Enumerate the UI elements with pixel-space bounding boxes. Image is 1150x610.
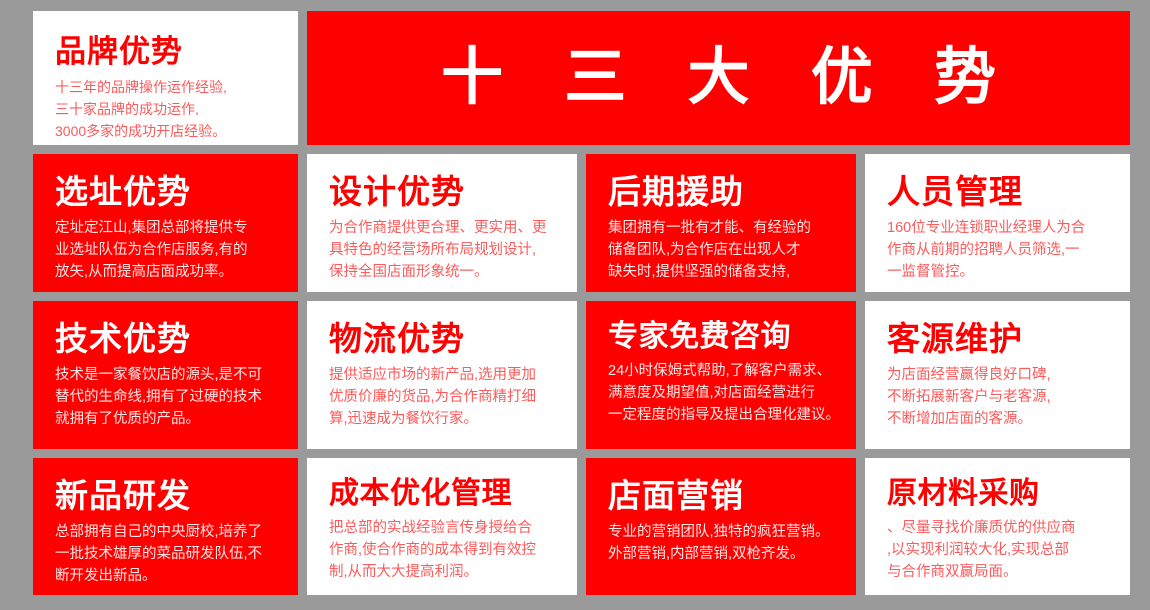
card-title: 客源维护 (887, 321, 1116, 357)
card-personnel-management: 人员管理 160位专业连锁职业经理人为合 作商从前期的招聘人员筛选,一 一监督管… (865, 154, 1130, 292)
card-body: 为合作商提供更合理、更实用、更 具特色的经营场所布局规划设计, 保持全国店面形象… (329, 217, 563, 283)
card-title: 新品研发 (55, 478, 284, 514)
card-title: 专家免费咨询 (608, 321, 842, 353)
main-title-banner: 十 三 大 优 势 (307, 11, 1130, 145)
card-store-marketing: 店面营销 专业的营销团队,独特的疯狂营销。 外部营销,内部营销,双枪齐发。 (586, 458, 856, 595)
card-title: 原材料采购 (887, 478, 1116, 510)
card-cost-optimization-management: 成本优化管理 把总部的实战经验言传身授给合 作商,使合作商的成本得到有效控 制,… (307, 458, 577, 595)
card-body: 为店面经营赢得良好口碑, 不断拓展新客户与老客源, 不断增加店面的客源。 (887, 364, 1116, 430)
card-title: 后期援助 (608, 174, 842, 210)
card-title: 成本优化管理 (329, 478, 563, 510)
card-customer-source-maintenance: 客源维护 为店面经营赢得良好口碑, 不断拓展新客户与老客源, 不断增加店面的客源… (865, 301, 1130, 449)
card-technology-advantage: 技术优势 技术是一家餐饮店的源头,是不可 替代的生命线,拥有了过硬的技术 就拥有… (33, 301, 298, 449)
card-body: 集团拥有一批有才能、有经验的 储备团队,为合作店在出现人才 缺失时,提供坚强的储… (608, 217, 842, 283)
card-body: 定址定江山,集团总部将提供专 业选址队伍为合作店服务,有的 放矢,从而提高店面成… (55, 217, 284, 283)
infographic-board: 品牌优势 十三年的品牌操作运作经验, 三十家品牌的成功运作, 3000多家的成功… (0, 0, 1150, 610)
card-body: 十三年的品牌操作运作经验, 三十家品牌的成功运作, 3000多家的成功开店经验。 (55, 77, 284, 142)
card-expert-free-consultation: 专家免费咨询 24小时保姆式帮助,了解客户需求、 满意度及期望值,对店面经营进行… (586, 301, 856, 449)
main-title-text: 十 三 大 优 势 (419, 47, 1018, 109)
card-site-selection-advantage: 选址优势 定址定江山,集团总部将提供专 业选址队伍为合作店服务,有的 放矢,从而… (33, 154, 298, 292)
card-title: 人员管理 (887, 174, 1116, 210)
card-body: 总部拥有自己的中央厨校,培养了 一批技术雄厚的菜品研发队伍,不 断开发出新品。 (55, 521, 284, 587)
card-brand-advantage: 品牌优势 十三年的品牌操作运作经验, 三十家品牌的成功运作, 3000多家的成功… (33, 11, 298, 145)
card-body: 专业的营销团队,独特的疯狂营销。 外部营销,内部营销,双枪齐发。 (608, 521, 842, 565)
card-design-advantage: 设计优势 为合作商提供更合理、更实用、更 具特色的经营场所布局规划设计, 保持全… (307, 154, 577, 292)
card-title: 选址优势 (55, 174, 284, 210)
card-body: 技术是一家餐饮店的源头,是不可 替代的生命线,拥有了过硬的技术 就拥有了优质的产… (55, 364, 284, 430)
cards-grid: 品牌优势 十三年的品牌操作运作经验, 三十家品牌的成功运作, 3000多家的成功… (33, 11, 1110, 580)
card-title: 技术优势 (55, 321, 284, 357)
card-title: 品牌优势 (55, 35, 284, 68)
card-logistics-advantage: 物流优势 提供适应市场的新产品,选用更加 优质价廉的货品,为合作商精打细 算,迅… (307, 301, 577, 449)
card-raw-material-procurement: 原材料采购 、尽量寻找价廉质优的供应商 ,以实现利润较大化,实现总部 与合作商双… (865, 458, 1130, 595)
card-new-product-development: 新品研发 总部拥有自己的中央厨校,培养了 一批技术雄厚的菜品研发队伍,不 断开发… (33, 458, 298, 595)
card-title: 设计优势 (329, 174, 563, 210)
card-title: 物流优势 (329, 321, 563, 357)
card-body: 24小时保姆式帮助,了解客户需求、 满意度及期望值,对店面经营进行 一定程度的指… (608, 360, 842, 426)
card-later-stage-support: 后期援助 集团拥有一批有才能、有经验的 储备团队,为合作店在出现人才 缺失时,提… (586, 154, 856, 292)
card-body: 、尽量寻找价廉质优的供应商 ,以实现利润较大化,实现总部 与合作商双赢局面。 (887, 517, 1116, 583)
card-body: 把总部的实战经验言传身授给合 作商,使合作商的成本得到有效控 制,从而大大提高利… (329, 517, 563, 583)
card-body: 160位专业连锁职业经理人为合 作商从前期的招聘人员筛选,一 一监督管控。 (887, 217, 1116, 283)
card-title: 店面营销 (608, 478, 842, 514)
card-body: 提供适应市场的新产品,选用更加 优质价廉的货品,为合作商精打细 算,迅速成为餐饮… (329, 364, 563, 430)
